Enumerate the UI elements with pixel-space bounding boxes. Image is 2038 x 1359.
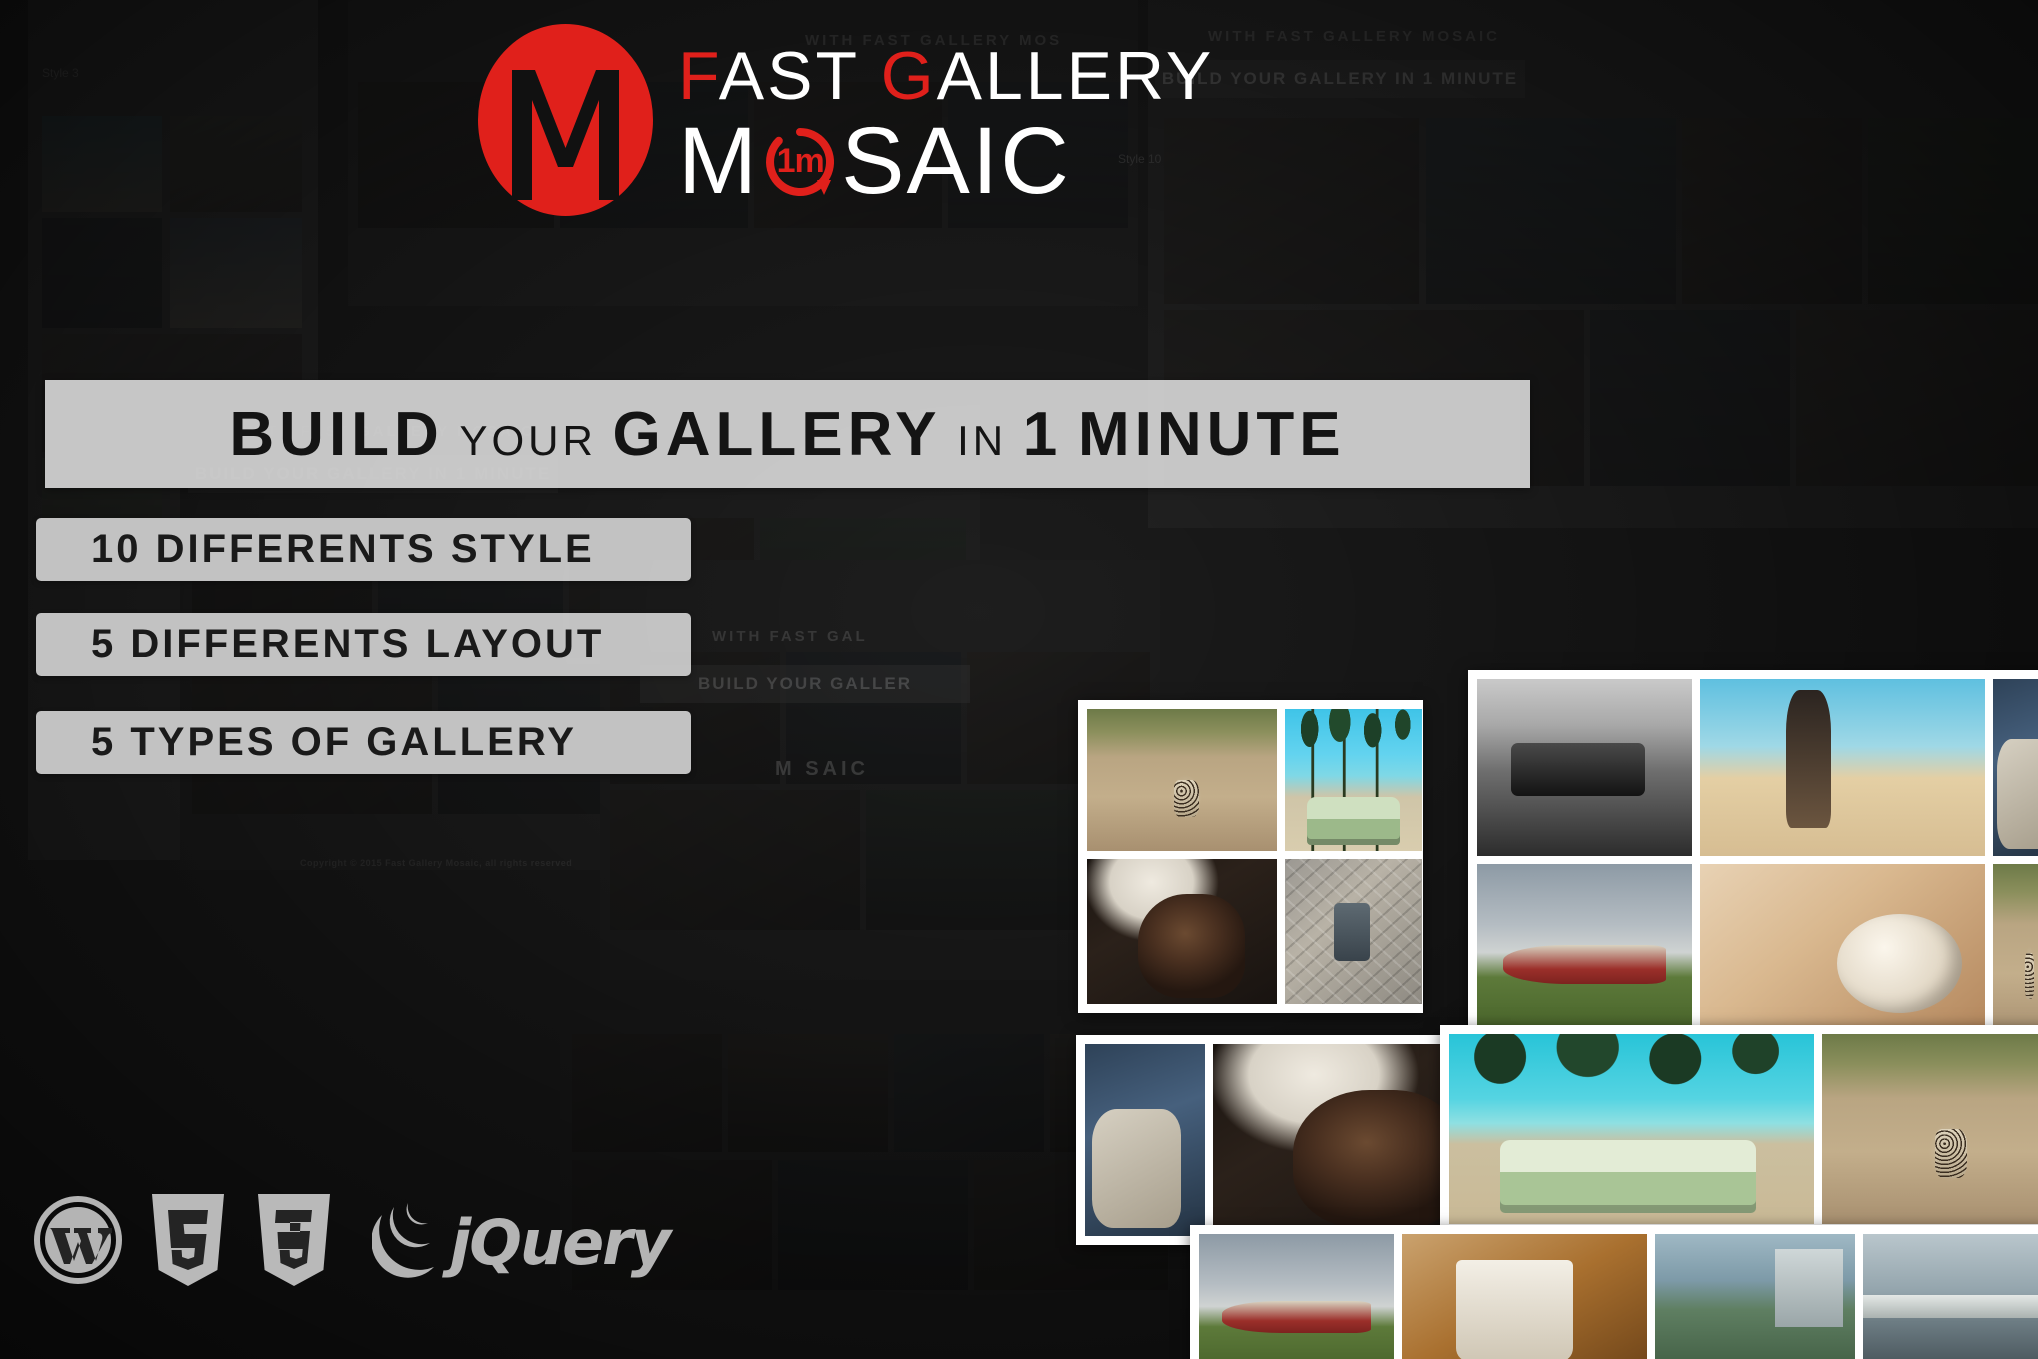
photo-edge-photo-strip[interactable] bbox=[1993, 679, 2038, 856]
main-headline-banner: BUILD YOUR GALLERY IN 1 MINUTE bbox=[45, 380, 1530, 488]
photo-black-white-dslr-camera[interactable] bbox=[1477, 679, 1692, 856]
headline-build: BUILD bbox=[229, 400, 443, 469]
feature-label: 10 DIFFERENTS STYLE bbox=[91, 527, 595, 572]
logo-line-2: M1mSAIC bbox=[678, 114, 1214, 209]
logo-allery: ALLERY bbox=[937, 38, 1215, 114]
photo-denim-jeans-with-scarf[interactable] bbox=[1085, 1044, 1205, 1236]
photo-propeller-plane-bottom[interactable] bbox=[1199, 1234, 1394, 1359]
bg-footer-note: Copyright © 2015 Fast Gallery Mosaic, al… bbox=[300, 858, 572, 868]
html5-logo-icon bbox=[146, 1192, 230, 1293]
bg-logo-ghost: M SAIC bbox=[775, 758, 869, 781]
gallery-card-bottom[interactable] bbox=[1440, 1025, 2038, 1233]
photo-leopard-walking-road[interactable] bbox=[1822, 1034, 2038, 1224]
logo-line-1: FAST GALLERY bbox=[678, 42, 1214, 110]
headline-text: BUILD YOUR GALLERY IN 1 MINUTE bbox=[229, 399, 1345, 470]
wordpress-logo-icon bbox=[32, 1194, 124, 1291]
technology-logos: jQuery bbox=[32, 1192, 669, 1292]
photo-leopard-on-dirt-road[interactable] bbox=[1087, 709, 1277, 851]
timer-label: 1m bbox=[761, 123, 839, 201]
bg-style-label: Style 3 bbox=[42, 66, 79, 80]
timer-1m-icon: 1m bbox=[761, 123, 839, 201]
feature-bar-styles: 10 DIFFERENTS STYLE bbox=[36, 518, 691, 581]
headline-gallery: GALLERY bbox=[613, 400, 942, 469]
logo-ast: AST bbox=[719, 38, 881, 114]
photo-hands-holding-baseball[interactable] bbox=[1700, 864, 1985, 1041]
gallery-card-bottom-strip[interactable] bbox=[1190, 1225, 2038, 1359]
headline-one: 1 bbox=[1023, 400, 1062, 469]
gallery-card-left[interactable] bbox=[1078, 700, 1423, 1013]
photo-palm-trees-with-van[interactable] bbox=[1285, 709, 1422, 851]
jquery-wordmark: jQuery bbox=[450, 1206, 669, 1279]
css3-logo-icon bbox=[252, 1192, 336, 1293]
logo-g: G bbox=[881, 38, 937, 114]
brand-logo: FAST GALLERY M1mSAIC bbox=[478, 24, 1118, 229]
photo-chocolate-labrador-dog[interactable] bbox=[1087, 859, 1277, 1004]
photo-coffee-mug-cuba[interactable] bbox=[1402, 1234, 1647, 1359]
headline-your: YOUR bbox=[459, 417, 596, 464]
feature-bar-gallery-types: 5 TYPES OF GALLERY bbox=[36, 711, 691, 774]
headline-minute: MINUTE bbox=[1078, 400, 1346, 469]
jquery-logo-icon: jQuery bbox=[372, 1201, 669, 1283]
gallery-card-right[interactable] bbox=[1468, 670, 2038, 1050]
logo-f: F bbox=[678, 38, 719, 114]
photo-vw-van-under-palms[interactable] bbox=[1449, 1034, 1814, 1224]
photo-person-by-river-city[interactable] bbox=[1655, 1234, 1855, 1359]
bg-caption: WITH FAST GAL bbox=[712, 628, 868, 645]
bg-caption: WITH FAST GALLERY MOSAIC bbox=[1208, 28, 1500, 45]
photo-bridge-over-water[interactable] bbox=[1863, 1234, 2038, 1359]
logo-saic: SAIC bbox=[841, 114, 1071, 209]
logo-wordmark: FAST GALLERY M1mSAIC bbox=[678, 42, 1214, 209]
photo-photographer-legs-on-beach[interactable] bbox=[1700, 679, 1985, 856]
logo-mark-icon bbox=[478, 24, 653, 216]
headline-in: IN bbox=[957, 417, 1007, 464]
photo-padlocks-on-fence[interactable] bbox=[1285, 859, 1422, 1004]
photo-red-propeller-plane-on-grass[interactable] bbox=[1477, 864, 1692, 1041]
photo-dirt-road-right-edge[interactable] bbox=[1993, 864, 2038, 1041]
feature-label: 5 DIFFERENTS LAYOUT bbox=[91, 622, 604, 667]
feature-label: 5 TYPES OF GALLERY bbox=[91, 720, 577, 765]
logo-m: M bbox=[678, 114, 759, 209]
feature-bar-layouts: 5 DIFFERENTS LAYOUT bbox=[36, 613, 691, 676]
